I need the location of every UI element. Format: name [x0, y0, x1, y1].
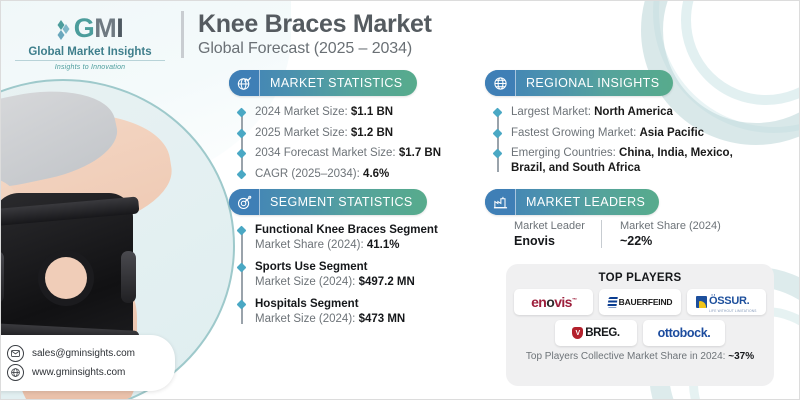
segment-metric: Market Size (2024): $497.2 MN: [255, 275, 438, 290]
contact-website: www.gminsights.com: [32, 367, 125, 378]
logo-company-name: Global Market Insights: [15, 46, 165, 61]
ossur-square-icon: [696, 296, 707, 308]
market-leader-key: Market Leader: [514, 220, 585, 232]
logo-letter-i: I: [116, 13, 123, 43]
list-segment-statistics: Functional Knee Braces Segment Market Sh…: [237, 223, 438, 334]
bauerfeind-bars-icon: [607, 297, 618, 308]
region-value: North America: [594, 106, 673, 118]
region-label: Emerging Countries:: [511, 147, 616, 159]
globe-chart-icon: [229, 70, 260, 96]
segment-metric: Market Share (2024): 41.1%: [255, 238, 438, 253]
stat-label: CAGR (2025–2034):: [255, 168, 360, 180]
region-value: Asia Pacific: [639, 127, 704, 139]
region-label: Fastest Growing Market:: [511, 127, 636, 139]
ossur-wordmark: ÖSSUR.LIFE WITHOUT LIMITATIONS: [696, 291, 757, 313]
bauerfeind-text: BAUERFEIND: [619, 297, 673, 307]
region-value: China, India, Mexico,: [619, 147, 733, 159]
badge-regional-insights[interactable]: REGIONAL INSIGHTS: [485, 70, 673, 96]
list-item: Sports Use Segment Market Size (2024): $…: [237, 260, 438, 290]
top-players-footer-value: ~37%: [728, 351, 754, 362]
list-item: Largest Market: North America: [493, 105, 733, 120]
player-logo-ottobock[interactable]: ottobock.: [643, 320, 725, 346]
list-item: CAGR (2025–2034): 4.6%: [237, 167, 441, 182]
page-title-block: Knee Braces Market Global Forecast (2025…: [181, 11, 432, 58]
badge-segment-statistics-label: SEGMENT STATISTICS: [260, 195, 427, 209]
segment-metric-label: Market Size (2024):: [255, 313, 355, 325]
logo-letter-g: G: [74, 13, 95, 43]
globe-icon: [7, 364, 24, 381]
list-item: Fastest Growing Market: Asia Pacific: [493, 126, 733, 141]
gmi-logo[interactable]: GMI Global Market Insights Insights to I…: [15, 15, 165, 73]
region-value-line2: Brazil, and South Africa: [511, 161, 733, 176]
list-item: Emerging Countries: China, India, Mexico…: [493, 146, 733, 175]
list-item: 2025 Market Size: $1.2 BN: [237, 126, 441, 141]
bauerfeind-wordmark: BAUERFEIND: [608, 297, 673, 308]
market-share-value: ~22%: [620, 234, 721, 248]
segment-metric: Market Size (2024): $473 MN: [255, 312, 438, 327]
logo-letter-m: M: [94, 13, 116, 43]
stat-value: 4.6%: [363, 168, 389, 180]
list-regional-insights: Largest Market: North America Fastest Gr…: [493, 105, 733, 182]
top-players-row-2: VBREG. ottobock.: [514, 320, 766, 346]
factory-icon: [485, 189, 516, 215]
player-logo-enovis[interactable]: enovis™: [514, 289, 593, 315]
list-market-statistics: 2024 Market Size: $1.1 BN 2025 Market Si…: [237, 105, 441, 188]
segment-metric-label: Market Size (2024):: [255, 276, 355, 288]
globe-icon: [485, 70, 516, 96]
market-share-key: Market Share (2024): [620, 220, 721, 232]
stat-value: $1.1 BN: [351, 106, 393, 118]
badge-market-leaders-label: MARKET LEADERS: [516, 195, 659, 209]
ottobock-wordmark: ottobock.: [658, 326, 711, 340]
enovis-wordmark: enovis™: [531, 294, 576, 310]
segment-title: Hospitals Segment: [255, 297, 438, 312]
ossur-subtext: LIFE WITHOUT LIMITATIONS: [709, 309, 757, 313]
top-players-row-1: enovis™ BAUERFEIND ÖSSUR.LIFE WITHOUT LI…: [514, 289, 766, 315]
market-leader-cell: Market Leader Enovis: [514, 220, 601, 248]
badge-market-statistics[interactable]: MARKET STATISTICS: [229, 70, 417, 96]
player-logo-breg[interactable]: VBREG.: [555, 320, 637, 346]
badge-market-leaders[interactable]: MARKET LEADERS: [485, 189, 659, 215]
list-item: 2034 Forecast Market Size: $1.7 BN: [237, 146, 441, 161]
page-title: Knee Braces Market: [198, 11, 432, 38]
player-logo-bauerfeind[interactable]: BAUERFEIND: [599, 289, 680, 315]
badge-market-statistics-label: MARKET STATISTICS: [260, 76, 417, 90]
top-players-title: TOP PLAYERS: [514, 272, 766, 284]
top-players-card: TOP PLAYERS enovis™ BAUERFEIND ÖSSUR.LIF…: [506, 264, 774, 386]
logo-wordmark: GMI: [15, 15, 165, 42]
list-item: Functional Knee Braces Segment Market Sh…: [237, 223, 438, 253]
diamond-icon: [57, 19, 72, 41]
segment-title: Sports Use Segment: [255, 260, 438, 275]
market-leader-summary: Market Leader Enovis Market Share (2024)…: [514, 220, 737, 248]
envelope-icon: [7, 345, 24, 362]
contact-email-row[interactable]: sales@gminsights.com: [7, 345, 163, 362]
segment-title: Functional Knee Braces Segment: [255, 223, 438, 238]
breg-wordmark: VBREG.: [572, 327, 619, 339]
brace-patella-opening: [45, 257, 87, 299]
market-leader-value: Enovis: [514, 234, 585, 248]
contact-email: sales@gminsights.com: [32, 348, 135, 359]
contact-bar: sales@gminsights.com www.gminsights.com: [0, 335, 175, 391]
region-label: Largest Market:: [511, 106, 591, 118]
player-logo-ossur[interactable]: ÖSSUR.LIFE WITHOUT LIMITATIONS: [687, 289, 766, 315]
segment-metric-label: Market Share (2024):: [255, 239, 364, 251]
segment-metric-value: $473 MN: [359, 313, 406, 325]
stat-value: $1.2 BN: [351, 127, 393, 139]
brace-hinge-right: [121, 251, 136, 303]
ossur-text: ÖSSUR.: [709, 295, 749, 307]
page-subtitle: Global Forecast (2025 – 2034): [198, 40, 432, 58]
logo-tagline: Insights to Innovation: [15, 64, 165, 71]
top-players-footer: Top Players Collective Market Share in 2…: [514, 351, 766, 362]
top-players-footer-label: Top Players Collective Market Share in 2…: [526, 351, 726, 362]
breg-shield-icon: V: [572, 327, 583, 339]
stat-label: 2025 Market Size:: [255, 127, 348, 139]
stat-label: 2024 Market Size:: [255, 106, 348, 118]
badge-regional-insights-label: REGIONAL INSIGHTS: [516, 76, 673, 90]
segment-metric-value: 41.1%: [367, 239, 400, 251]
infographic-canvas: GMI Global Market Insights Insights to I…: [0, 0, 800, 400]
target-chart-icon: [229, 189, 260, 215]
badge-segment-statistics[interactable]: SEGMENT STATISTICS: [229, 189, 427, 215]
brace-hinge-left: [0, 251, 4, 303]
stat-label: 2034 Forecast Market Size:: [255, 147, 396, 159]
list-item: 2024 Market Size: $1.1 BN: [237, 105, 441, 120]
stat-value: $1.7 BN: [399, 147, 441, 159]
market-share-cell: Market Share (2024) ~22%: [601, 220, 737, 248]
segment-metric-value: $497.2 MN: [359, 276, 415, 288]
contact-website-row[interactable]: www.gminsights.com: [7, 364, 163, 381]
breg-text: BREG.: [585, 327, 619, 339]
list-item: Hospitals Segment Market Size (2024): $4…: [237, 297, 438, 327]
